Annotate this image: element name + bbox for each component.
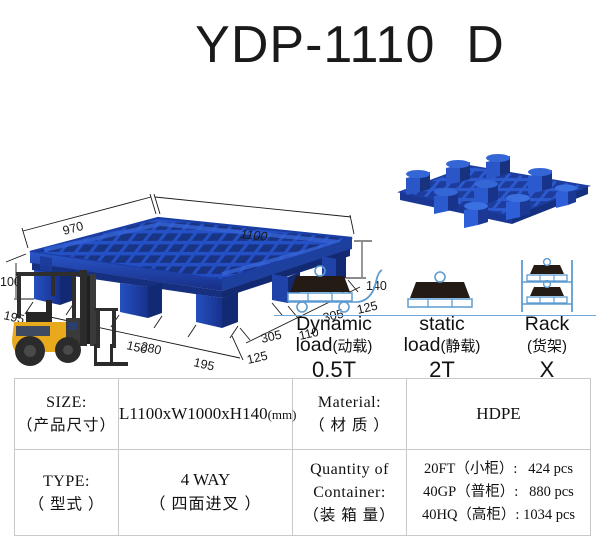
load-spec-static: static load(静载) 2T <box>390 258 494 382</box>
rack-load-label: Rack (货架) <box>494 314 600 357</box>
forklift-carriage <box>94 308 118 311</box>
load-capacity-section: Dynamic load(动载) 0.5T static load(静载) 2T <box>272 258 600 376</box>
pallet-foot-front-right <box>196 292 238 328</box>
forklift-image <box>6 256 132 374</box>
dynamic-load-name-en2: load <box>296 334 333 356</box>
cell-container-label: Quantity of Container: （装 箱 量） <box>293 450 407 536</box>
static-load-name-en: static <box>419 313 465 335</box>
container-label-en2: Container: <box>313 484 386 501</box>
table-row-type-container: TYPE: （ 型式 ） 4 WAY （ 四面进叉 ） Quantity of … <box>15 450 591 536</box>
load-spec-rack: Rack (货架) X <box>494 258 600 382</box>
size-label-en: SIZE: <box>46 394 87 411</box>
dim-bottom-195: 195 <box>192 355 216 373</box>
cell-material-value: HDPE <box>407 379 591 450</box>
forklift-overhead-guard <box>16 272 82 276</box>
cell-container-value: 20FT（小柜）: 424 pcs 40GP（普柜）: 880 pcs 40HQ… <box>407 450 591 536</box>
type-label-en: TYPE: <box>43 473 90 490</box>
static-load-name-cn: (静载) <box>440 338 480 355</box>
static-load-icon <box>390 258 494 314</box>
type-label-cn: （ 型式 ） <box>29 496 105 513</box>
dim-right-125: 125 <box>246 349 270 367</box>
container-label-en1: Quantity of <box>310 461 389 478</box>
container-qty-40hq: 40HQ（高柜）: 1034 pcs <box>407 504 590 527</box>
type-value-en: 4 WAY <box>181 470 231 489</box>
forklift-panel <box>16 326 50 336</box>
dynamic-load-icon <box>272 258 396 314</box>
dynamic-load-label: Dynamic load(动载) <box>272 314 396 357</box>
cell-material-label: Material: （ 材 质 ） <box>293 379 407 450</box>
specification-table: SIZE: （产品尺寸） L1100xW1000xH140(mm) Materi… <box>14 378 591 536</box>
rack-load-name-en: Rack <box>525 313 569 335</box>
size-label-cn: （产品尺寸） <box>17 417 116 434</box>
cell-size-value: L1100xW1000xH140(mm) <box>119 379 293 450</box>
static-load-name-en2: load <box>404 334 441 356</box>
table-row-size-material: SIZE: （产品尺寸） L1100xW1000xH140(mm) Materi… <box>15 379 591 450</box>
dynamic-load-name-en: Dynamic <box>296 313 372 335</box>
rack-load-name-cn: (货架) <box>527 338 567 355</box>
page-title: YDP-1110 D <box>0 16 600 74</box>
material-label-cn: （ 材 质 ） <box>309 417 390 434</box>
cell-type-label: TYPE: （ 型式 ） <box>15 450 119 536</box>
cell-type-value: 4 WAY （ 四面进叉 ） <box>119 450 293 536</box>
type-value-cn: （ 四面进叉 ） <box>149 496 261 513</box>
load-spec-dynamic: Dynamic load(动载) 0.5T <box>272 258 396 382</box>
static-load-label: static load(静载) <box>390 314 494 357</box>
dim-1100: 1100 <box>240 227 268 244</box>
forklift-mast-left <box>80 270 87 346</box>
forklift-seat <box>26 300 52 324</box>
container-label-cn: （装 箱 量） <box>303 507 395 524</box>
container-qty-40gp: 40GP（普柜）: 880 pcs <box>407 481 590 504</box>
pallet-second-view <box>400 154 588 228</box>
material-label-en: Material: <box>318 394 381 411</box>
cell-size-label: SIZE: （产品尺寸） <box>15 379 119 450</box>
rack-load-icon <box>494 258 600 314</box>
size-value-unit: (mm) <box>268 407 297 422</box>
dim-970: 970 <box>61 219 85 238</box>
dynamic-load-name-cn: (动载) <box>332 338 372 355</box>
size-value: L1100xW1000xH140 <box>119 404 268 423</box>
container-qty-20ft: 20FT（小柜）: 424 pcs <box>407 458 590 481</box>
